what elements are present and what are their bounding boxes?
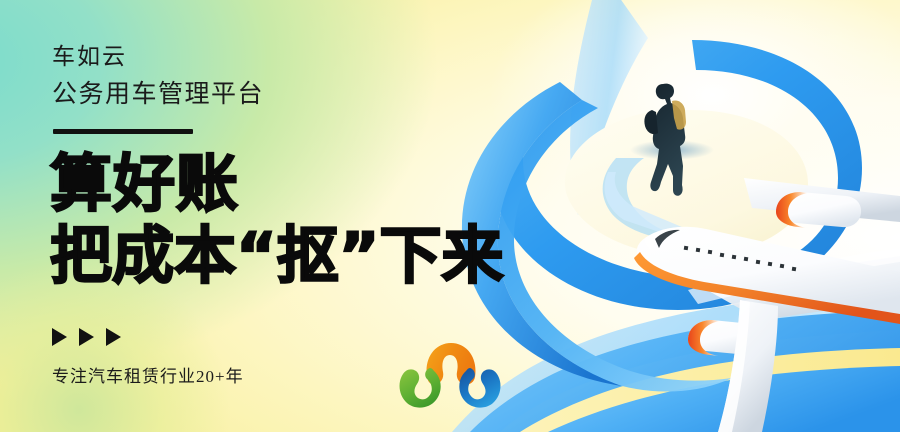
text-content: 车如云 公务用车管理平台 算好账 把成本“抠”下来 专注汽车租赁行业20+年 <box>52 0 612 432</box>
play-triangle-icon <box>79 328 94 346</box>
headline-block: 算好账 把成本“抠”下来 <box>50 148 504 292</box>
play-triangle-icon <box>106 328 121 346</box>
arrow-markers <box>52 328 121 346</box>
headline-line-1: 算好账 <box>50 148 504 220</box>
logo-arc-green <box>400 368 441 408</box>
brand-name: 车如云 <box>52 42 264 72</box>
tagline: 专注汽车租赁行业20+年 <box>52 362 244 387</box>
logo-arc-blue <box>459 368 500 408</box>
cloud-logo <box>398 330 502 410</box>
brand-block: 车如云 公务用车管理平台 <box>52 42 264 112</box>
promo-banner: 车如云 公务用车管理平台 算好账 把成本“抠”下来 专注汽车租赁行业20+年 <box>0 0 900 432</box>
brand-subtitle: 公务用车管理平台 <box>52 78 264 112</box>
divider-rule <box>53 129 193 134</box>
headline-line-2: 把成本“抠”下来 <box>50 220 504 292</box>
play-triangle-icon <box>52 328 67 346</box>
